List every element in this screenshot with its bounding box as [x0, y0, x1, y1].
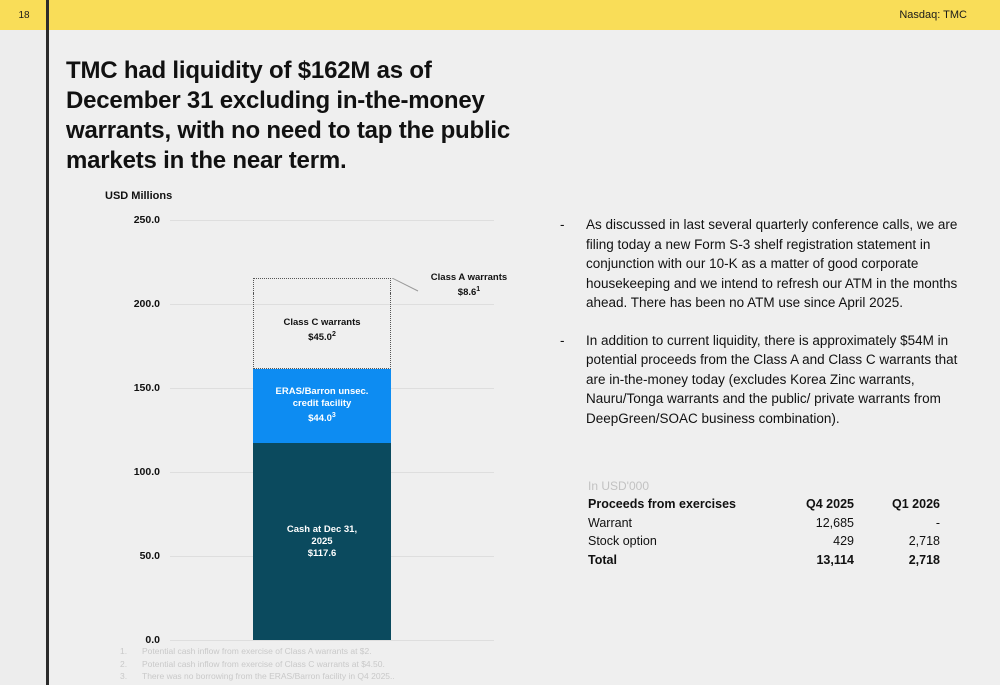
table-row: Warrant 12,685 -: [588, 514, 940, 533]
ytick-100: 100.0: [100, 466, 160, 478]
left-vertical-rule: [46, 0, 49, 685]
row-q4: 12,685: [768, 514, 854, 533]
footnote-item: 3. There was no borrowing from the ERAS/…: [120, 670, 540, 683]
class-a-footnote-ref: 1: [476, 286, 480, 293]
cash-name-line2: 2025: [311, 536, 332, 547]
proceeds-from-exercises-table: Proceeds from exercises Q4 2025 Q1 2026 …: [588, 495, 940, 569]
table-row-total: Total 13,114 2,718: [588, 551, 940, 570]
bullet-dash: -: [560, 331, 586, 429]
footnote-number: 1.: [120, 645, 142, 658]
page-number: 18: [0, 0, 48, 30]
bullet-text: As discussed in last several quarterly c…: [586, 215, 960, 313]
ytick-250: 250.0: [100, 214, 160, 226]
commentary-panel: - As discussed in last several quarterly…: [560, 215, 960, 446]
left-gutter: [0, 30, 46, 685]
table-header-row: Proceeds from exercises Q4 2025 Q1 2026: [588, 495, 940, 514]
footnote-item: 1. Potential cash inflow from exercise o…: [120, 645, 540, 658]
class-a-warrants-callout: Class A warrants $8.61: [414, 272, 524, 299]
bar-segment-cash-at-dec-31-2025: Cash at Dec 31, 2025 $117.6: [253, 443, 391, 640]
ytick-150: 150.0: [100, 382, 160, 394]
class-c-value: $45.0: [308, 332, 332, 343]
row-q4: 13,114: [768, 551, 854, 570]
table-header-label: Proceeds from exercises: [588, 495, 768, 514]
class-a-name: Class A warrants: [431, 272, 507, 283]
eras-name-line2: credit facility: [293, 398, 352, 409]
table-header-q4: Q4 2025: [768, 495, 854, 514]
ticker-label: Nasdaq: TMC: [899, 0, 967, 30]
chart-unit-label: USD Millions: [105, 190, 172, 202]
ytick-50: 50.0: [100, 550, 160, 562]
bullet-text: In addition to current liquidity, there …: [586, 331, 960, 429]
gridline-250: [170, 220, 494, 221]
page-title: TMC had liquidity of $162M as of Decembe…: [66, 56, 536, 176]
footnote-number: 2.: [120, 658, 142, 671]
footnote-text: Potential cash inflow from exercise of C…: [142, 658, 385, 671]
bar-segment-eras-label: ERAS/Barron unsec. credit facility $44.0…: [276, 386, 369, 425]
bullet-item: - In addition to current liquidity, ther…: [560, 331, 960, 429]
bar-segment-class-a-warrants: [253, 278, 391, 293]
row-label: Warrant: [588, 514, 768, 533]
liquidity-stacked-bar-chart: USD Millions 250.0 200.0 150.0 100.0 50.…: [100, 190, 500, 645]
header-bar: [0, 0, 1000, 30]
ytick-200: 200.0: [100, 298, 160, 310]
row-label: Stock option: [588, 532, 768, 551]
footnote-text: There was no borrowing from the ERAS/Bar…: [142, 670, 395, 683]
row-q4: 429: [768, 532, 854, 551]
class-c-footnote-ref: 2: [332, 331, 336, 338]
table-row: Stock option 429 2,718: [588, 532, 940, 551]
cash-value: $117.6: [308, 548, 337, 559]
bar-segment-cash-label: Cash at Dec 31, 2025 $117.6: [287, 524, 357, 560]
class-c-name: Class C warrants: [283, 317, 360, 328]
stacked-bar: Class C warrants $45.02 ERAS/Barron unse…: [253, 278, 391, 640]
row-q1: 2,718: [854, 551, 940, 570]
row-q1: 2,718: [854, 532, 940, 551]
bullet-item: - As discussed in last several quarterly…: [560, 215, 960, 313]
row-q1: -: [854, 514, 940, 533]
eras-name-line1: ERAS/Barron unsec.: [276, 386, 369, 397]
class-a-value: $8.6: [458, 287, 477, 298]
eras-footnote-ref: 3: [332, 412, 336, 419]
bar-segment-class-c-label: Class C warrants $45.02: [283, 317, 360, 344]
table-caption: In USD'000: [588, 478, 940, 495]
footnote-item: 2. Potential cash inflow from exercise o…: [120, 658, 540, 671]
bar-segment-class-c-warrants: Class C warrants $45.02: [253, 293, 391, 369]
footnote-number: 3.: [120, 670, 142, 683]
gridline-0: [170, 640, 494, 641]
row-label: Total: [588, 551, 768, 570]
footnotes: 1. Potential cash inflow from exercise o…: [120, 645, 540, 683]
footnote-text: Potential cash inflow from exercise of C…: [142, 645, 372, 658]
bar-segment-eras-barron-credit-facility: ERAS/Barron unsec. credit facility $44.0…: [253, 369, 391, 443]
bullet-dash: -: [560, 215, 586, 313]
proceeds-table-wrapper: In USD'000 Proceeds from exercises Q4 20…: [588, 478, 940, 569]
cash-name-line1: Cash at Dec 31,: [287, 524, 357, 535]
table-header-q1: Q1 2026: [854, 495, 940, 514]
eras-value: $44.0: [308, 414, 332, 425]
